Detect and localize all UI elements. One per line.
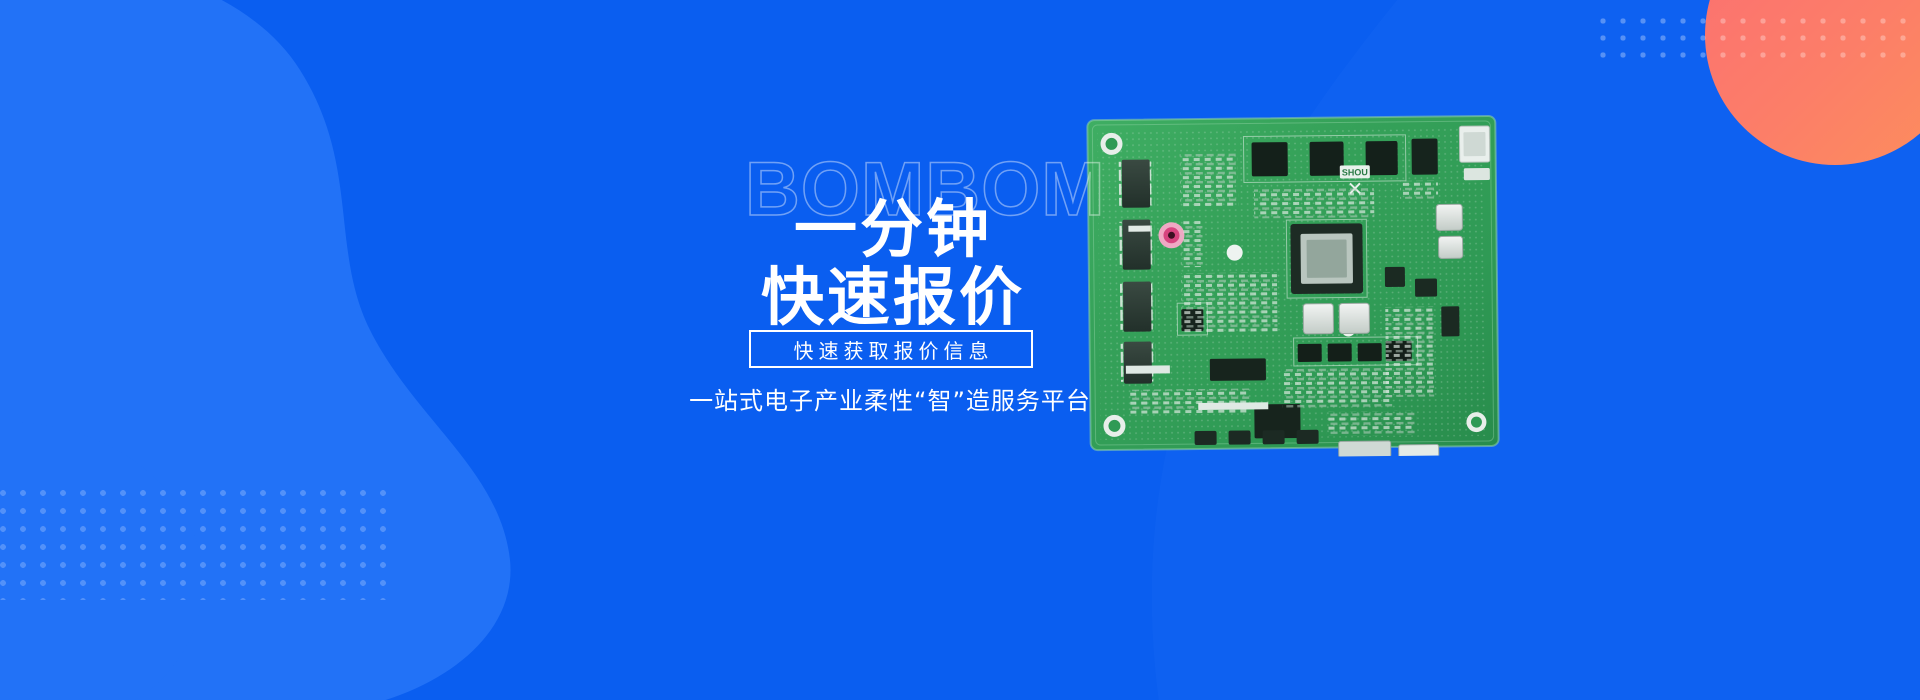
promo-banner: SHOU (0, 0, 1920, 700)
svg-text:SHOU: SHOU (1342, 167, 1368, 177)
pcb-board-image: SHOU (1083, 110, 1507, 459)
pcb-main-processor (1290, 223, 1363, 294)
background-decoration (0, 0, 1920, 700)
